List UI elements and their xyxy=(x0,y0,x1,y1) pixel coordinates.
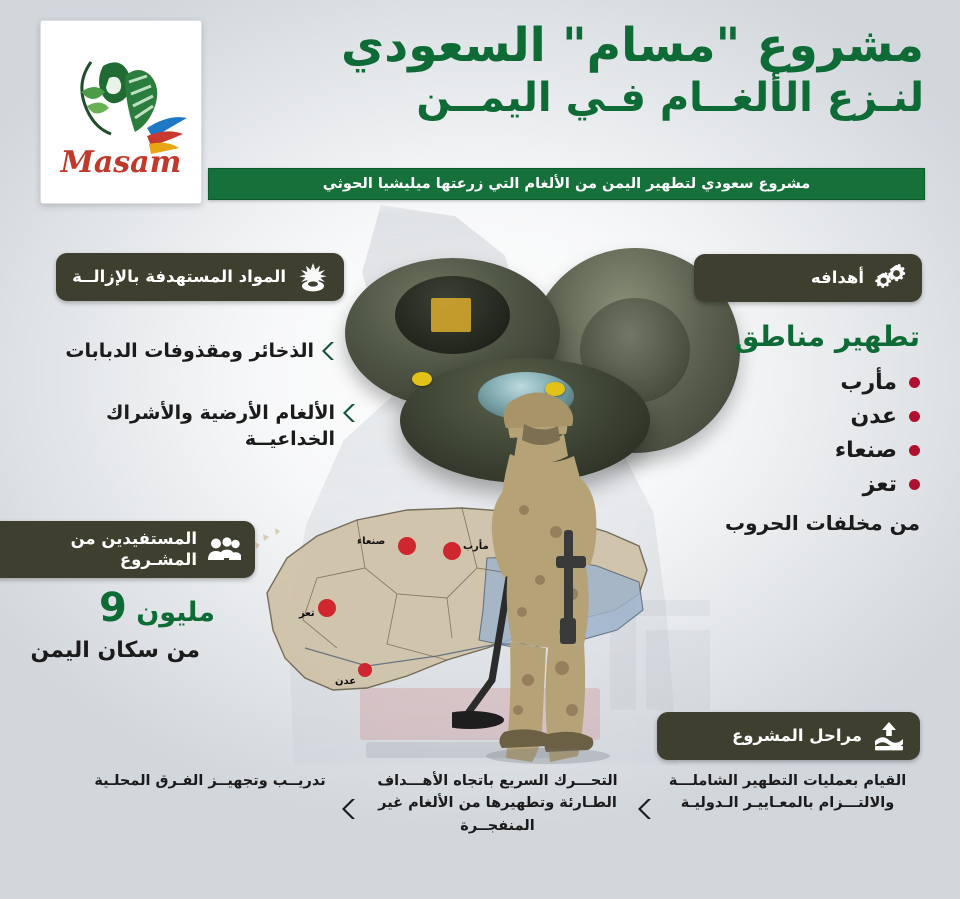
infographic-poster: صنعاء مأرب تعز عدن xyxy=(0,0,960,899)
bullet-dot-icon xyxy=(909,411,920,422)
beneficiaries-count: مليون 9 xyxy=(99,588,215,628)
mine-explosion-icon xyxy=(296,260,330,294)
city-label: مأرب xyxy=(840,370,897,395)
bullet-dot-icon xyxy=(909,479,920,490)
target-label: الذخائر ومقذوفات الدبابات xyxy=(65,338,314,364)
soldier-with-metal-detector xyxy=(452,380,632,800)
list-item: صنعاء xyxy=(720,433,920,467)
phase-step: التحـــرك السريع باتجاه الأهـــداف الطـا… xyxy=(365,770,630,837)
target-item: الألغام الأرضية والأشراك الخداعيــة xyxy=(28,400,358,452)
targets-badge: المواد المستهدفة بالإزالــة xyxy=(56,253,344,301)
list-item: عدن xyxy=(720,399,920,433)
gears-icon xyxy=(874,261,908,295)
phase-step: القيام بعمليات التطهير الشاملـــة والالت… xyxy=(655,770,920,815)
bullet-dot-icon xyxy=(909,445,920,456)
map-label-taiz: تعز xyxy=(299,608,315,619)
subtitle-banner: مشروع سعودي لتطهير اليمن من الألغام التي… xyxy=(208,168,925,200)
list-item: مأرب xyxy=(720,365,920,399)
svg-text:Masam: Masam xyxy=(60,145,182,180)
targets-badge-label: المواد المستهدفة بالإزالــة xyxy=(72,266,286,287)
masam-logo: Masam xyxy=(40,20,202,204)
target-item: الذخائر ومقذوفات الدبابات xyxy=(27,338,337,368)
city-label: تعز xyxy=(863,472,897,497)
bullet-dot-icon xyxy=(909,377,920,388)
layers-up-arrow-icon xyxy=(872,719,906,753)
people-group-icon xyxy=(207,532,241,566)
subtitle-text: مشروع سعودي لتطهير اليمن من الألغام التي… xyxy=(323,176,810,192)
phases-badge: مراحل المشروع xyxy=(657,712,920,760)
goals-city-list: مأرب عدن صنعاء تعز xyxy=(720,365,920,501)
city-label: عدن xyxy=(850,404,897,429)
title-line-2: لنـزع الألغــام فـي اليمــن xyxy=(224,73,924,123)
phase-step: تدريــب وتجهيــز الفـرق المحلـية xyxy=(85,770,335,792)
mine-knob xyxy=(412,372,432,386)
beneficiaries-description: من سكان اليمن xyxy=(30,638,200,663)
chevron-left-icon xyxy=(343,403,358,430)
target-label: الألغام الأرضية والأشراك الخداعيــة xyxy=(28,400,335,452)
list-item: تعز xyxy=(720,467,920,501)
mine-tape xyxy=(431,298,471,332)
beneficiaries-badge-label: المستفيدين من المشـروع xyxy=(0,528,197,571)
map-label-aden: عدن xyxy=(335,676,356,687)
beneficiaries-badge: المستفيدين من المشـروع xyxy=(0,521,255,578)
goals-footer: من مخلفات الحروب xyxy=(725,511,920,535)
phases-badge-label: مراحل المشروع xyxy=(732,725,862,746)
goals-heading: تطهير مناطق xyxy=(734,320,920,353)
beneficiaries-unit: مليون xyxy=(136,597,215,628)
chevron-left-icon xyxy=(322,341,337,368)
page-title: مشروع "مسام" السعودي لنـزع الألغــام فـي… xyxy=(224,18,924,123)
city-label: صنعاء xyxy=(835,438,897,463)
chevron-left-icon xyxy=(638,798,654,824)
chevron-left-icon xyxy=(342,798,358,824)
beneficiaries-number: 9 xyxy=(99,585,127,631)
map-label-sanaa: صنعاء xyxy=(357,536,385,547)
goals-badge: أهدافه xyxy=(694,254,922,302)
goals-badge-label: أهدافه xyxy=(811,267,864,288)
title-line-1: مشروع "مسام" السعودي xyxy=(224,18,924,73)
